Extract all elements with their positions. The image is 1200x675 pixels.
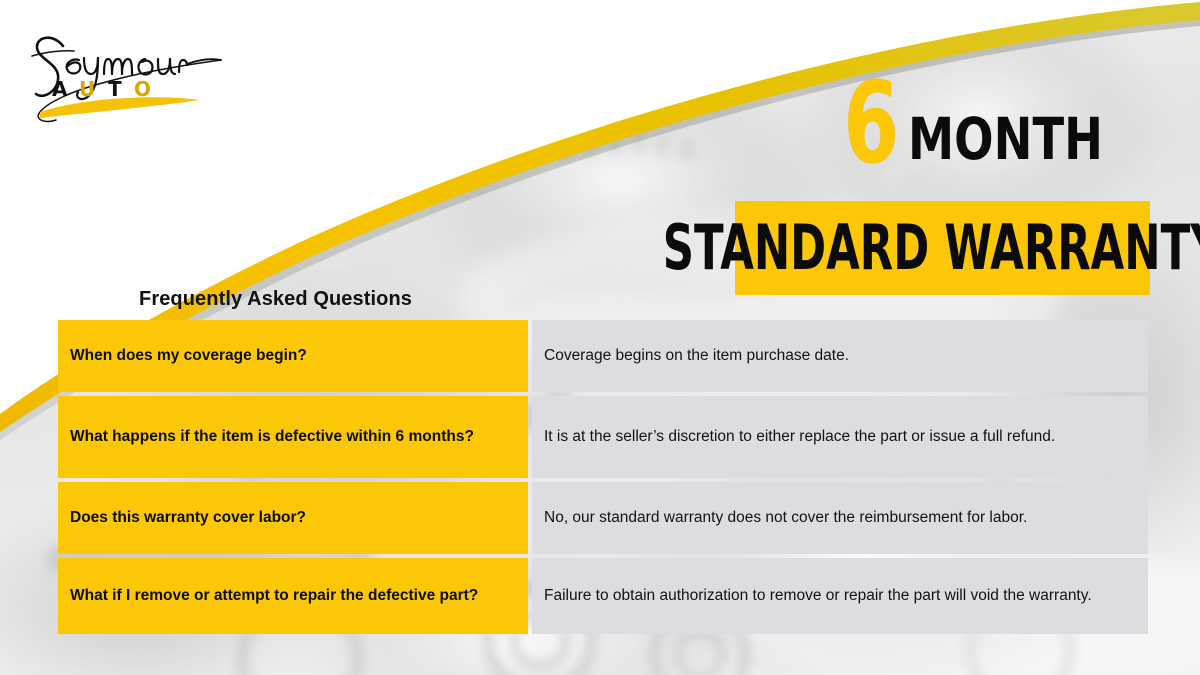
faq-answer-text: Coverage begins on the item purchase dat… <box>544 346 1134 366</box>
faq-question-cell: What if I remove or attempt to repair th… <box>58 558 528 634</box>
table-row: What happens if the item is defective wi… <box>58 396 1148 478</box>
faq-answer-cell: It is at the seller’s discretion to eith… <box>532 396 1148 478</box>
faq-answer-cell: No, our standard warranty does not cover… <box>532 482 1148 554</box>
svg-text:U: U <box>79 77 100 101</box>
faq-question-cell: What happens if the item is defective wi… <box>58 396 528 478</box>
faq-question-text: What if I remove or attempt to repair th… <box>70 586 478 606</box>
faq-answer-text: Failure to obtain authorization to remov… <box>544 586 1134 606</box>
svg-text:A: A <box>52 77 72 101</box>
warranty-term-unit: MONTH <box>908 112 1103 173</box>
warranty-term: 6 MONTH <box>822 75 1152 174</box>
warranty-term-number: 6 <box>844 75 899 174</box>
standard-warranty-banner: STANDARD WARRANTY <box>735 201 1150 295</box>
faq-answer-cell: Failure to obtain authorization to remov… <box>532 558 1148 634</box>
table-row: When does my coverage begin? Coverage be… <box>58 320 1148 392</box>
faq-question-cell: When does my coverage begin? <box>58 320 528 392</box>
warranty-headline: 6 MONTH STANDARD WARRANTY <box>735 75 1155 305</box>
faq-table: When does my coverage begin? Coverage be… <box>58 320 1148 634</box>
faq-answer-cell: Coverage begins on the item purchase dat… <box>532 320 1148 392</box>
table-row: Does this warranty cover labor? No, our … <box>58 482 1148 554</box>
warranty-faq-slide: A U T O 6 MONTH STANDARD WARRANTY Freque… <box>0 0 1200 675</box>
faq-question-cell: Does this warranty cover labor? <box>58 482 528 554</box>
faq-heading: Frequently Asked Questions <box>139 288 412 311</box>
table-row: What if I remove or attempt to repair th… <box>58 558 1148 634</box>
faq-answer-text: No, our standard warranty does not cover… <box>544 508 1134 528</box>
seymour-auto-logo[interactable]: A U T O <box>22 20 252 130</box>
faq-question-text: Does this warranty cover labor? <box>70 508 306 528</box>
standard-warranty-label: STANDARD WARRANTY <box>663 217 1200 279</box>
faq-question-text: What happens if the item is defective wi… <box>70 427 474 447</box>
svg-text:T: T <box>108 77 127 101</box>
faq-answer-text: It is at the seller’s discretion to eith… <box>544 427 1134 447</box>
faq-question-text: When does my coverage begin? <box>70 346 307 366</box>
